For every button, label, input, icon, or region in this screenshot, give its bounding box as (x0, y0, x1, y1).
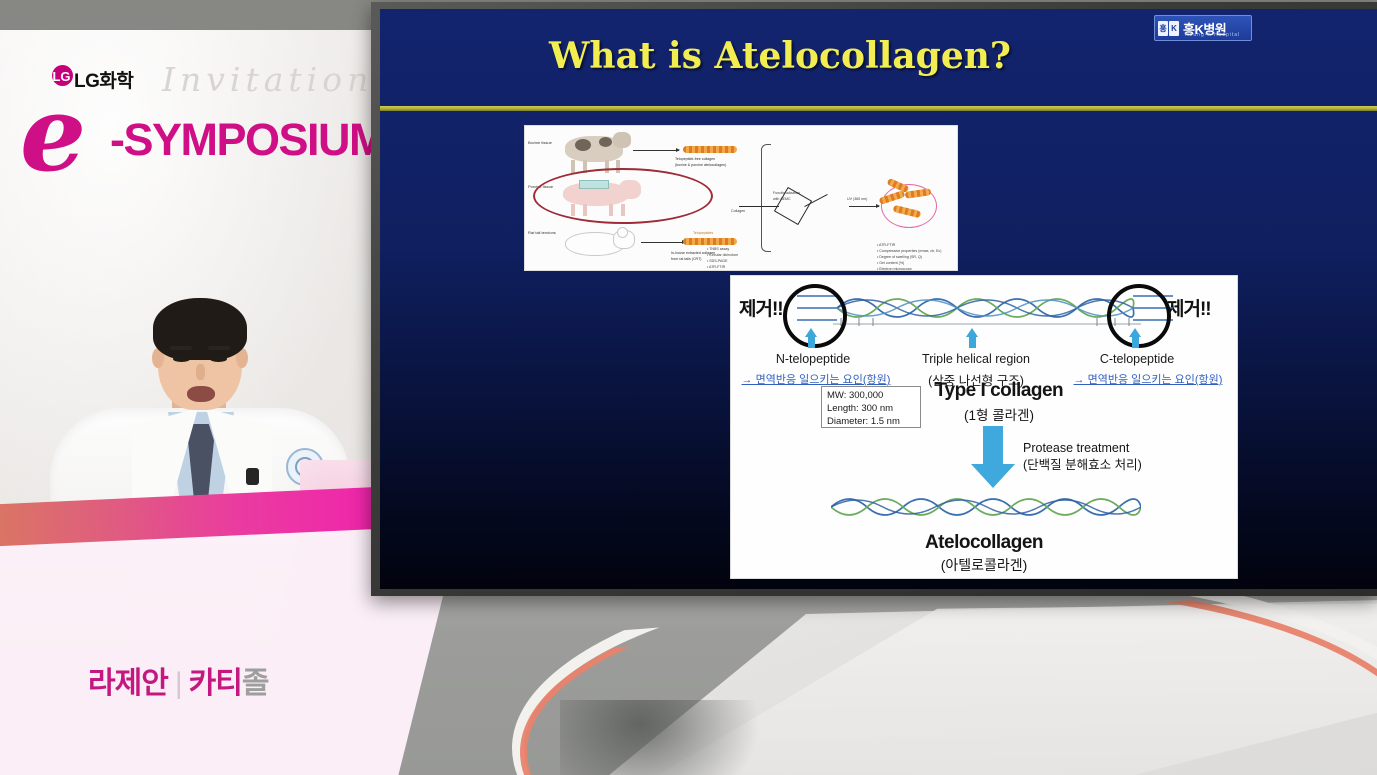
invitation-script-text: Invitation (162, 60, 373, 99)
product-logo-part2b: 졸 (242, 667, 269, 700)
symposium-wordmark: -SYMPOSIUM (110, 114, 374, 166)
chem-collagen-label: Collagen (731, 208, 745, 214)
figure-source-label-rat: Rat tail tendons (528, 230, 556, 236)
collagen-mw: MW: 300,000 (827, 389, 920, 402)
source-figure-image: Bovine tissue Porcine tissue Rat tail te… (524, 125, 958, 271)
hospital-logo: 홍 K 홍K병원 Houng-K Hospital (1154, 15, 1252, 41)
arrow-glyph-left: → (742, 374, 756, 386)
arrow-up-n-telopeptide (805, 328, 818, 348)
protease-treatment-caption: Protease treatment (단백질 분해효소 처리) (1023, 440, 1142, 474)
remove-label-left: 제거!! (739, 294, 783, 321)
hospital-logo-box1: 홍 (1158, 21, 1168, 36)
collagen-length: Length: 300 nm (827, 402, 920, 415)
collagen-molecule-bottom (683, 238, 737, 245)
product-logo-part1: 라제안 (88, 667, 168, 700)
label-c-telopeptide: C-telopeptide (1075, 352, 1199, 366)
slide-canvas: What is Atelocollagen? 홍 K 홍K병원 Houng-K … (380, 9, 1377, 589)
arrow-uv-reaction (849, 206, 879, 207)
type-i-collagen-korean: (1형 콜라겐) (909, 404, 1089, 424)
label-n-telopeptide-ko: → 면역반응 일으키는 요인(항원) (731, 371, 901, 387)
presenter-mouth (187, 386, 215, 402)
arrow-cow-to-product (633, 150, 679, 151)
presenter-nose (196, 364, 205, 380)
title-underline-rule (380, 106, 1377, 111)
red-highlight-ellipse (533, 168, 713, 224)
label-triple-helix: Triple helical region (907, 352, 1045, 366)
figure-telopeptides-note: Telopeptides (693, 230, 713, 236)
presenter-eye-right (210, 356, 227, 362)
presenter-eyebrow-left (170, 346, 192, 350)
label-c-telopeptide-ko-text: 면역반응 일으키는 요인(항원) (1088, 374, 1223, 386)
atelocollagen-caption: Atelocollagen (아텔로콜라겐) (731, 532, 1237, 575)
protease-treatment-ko: (단백질 분해효소 처리) (1023, 457, 1142, 474)
rat-illustration (561, 226, 639, 260)
type-i-collagen-title: Type I collagen (909, 380, 1089, 402)
lapel-microphone-icon (246, 468, 259, 485)
webinar-stage: LG LG화학 Invitation e -SYMPOSIUM (0, 0, 1377, 775)
protease-treatment-en: Protease treatment (1023, 440, 1142, 457)
atelocollagen-helix (831, 490, 1141, 530)
presentation-screen: What is Atelocollagen? 홍 K 홍K병원 Houng-K … (371, 2, 1377, 596)
atelocollagen-title: Atelocollagen (731, 532, 1237, 554)
floor-shadow (560, 700, 760, 775)
hospital-logo-box2: K (1169, 21, 1179, 36)
arrow-up-c-telopeptide (1129, 328, 1142, 348)
cow-illustration (557, 130, 631, 170)
product-logo-part2a: 카티 (189, 667, 242, 700)
collagen-schematic: 제거!! 제거!! (730, 275, 1238, 579)
type-i-collagen-caption: Type I collagen (1형 콜라겐) (909, 380, 1089, 424)
figure-checks-left: • TNBS assay • Circular dichroism • SDS-… (707, 246, 738, 270)
atelocollagen-korean: (아텔로콜라겐) (731, 555, 1237, 575)
presenter-camera-panel: LG LG화학 Invitation e -SYMPOSIUM (0, 30, 374, 530)
collagen-diameter: Diameter: 1.5 nm (827, 415, 920, 428)
chemistry-structure: Collagen (733, 188, 863, 222)
crosslinked-gel-illustration (877, 178, 939, 232)
collagen-dimensions-box: MW: 300,000 Length: 300 nm Diameter: 1.5… (821, 386, 921, 428)
arrow-up-triple-helix (966, 328, 979, 348)
esymposium-branding: LG LG화학 Invitation e -SYMPOSIUM (14, 62, 366, 180)
e-logo-glyph: e (20, 82, 86, 186)
collagen-molecule-top (683, 146, 737, 153)
figure-product-top-label: Telopeptide-free collagen (bovine & porc… (675, 156, 726, 168)
figure-checks-right: • ATR-FTIR • Compressive properties (σma… (877, 242, 941, 271)
label-n-telopeptide: N-telopeptide (751, 352, 875, 366)
uv-reaction-label: UV (365 nm) (847, 196, 867, 202)
slide-title: What is Atelocollagen? (380, 35, 1180, 77)
product-logo-divider: | (175, 667, 182, 700)
figure-source-label-bovine: Bovine tissue (528, 140, 552, 146)
remove-label-right: 제거!! (1167, 294, 1211, 321)
presenter-eye-left (173, 356, 190, 362)
product-logo: 라제안|카티졸 (88, 658, 268, 702)
protease-down-arrow (971, 426, 1015, 488)
presenter-eyebrow-right (208, 346, 230, 350)
hospital-logo-english: Houng-K Hospital (1185, 32, 1240, 38)
arrow-rat-to-product (641, 242, 685, 243)
presenter-hair (153, 298, 247, 360)
label-n-telopeptide-ko-text: 면역반응 일으키는 요인(항원) (756, 374, 891, 386)
